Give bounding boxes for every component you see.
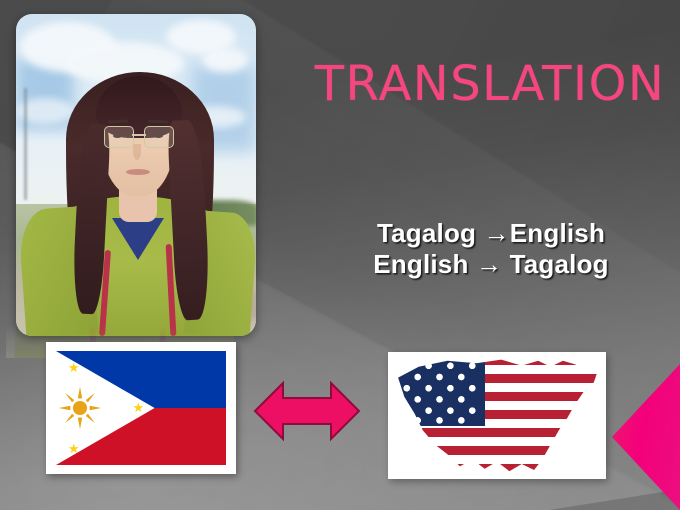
eyeglass-lens-right — [144, 126, 174, 148]
utility-pole — [24, 88, 27, 200]
philippines-star-icon: ★ — [133, 401, 145, 414]
united-states-flag-map-icon — [394, 356, 600, 476]
mouth — [126, 169, 150, 175]
portrait-photo-frame — [16, 14, 256, 336]
philippines-flag-card: ★ ★ ★ — [46, 342, 236, 474]
philippines-sun-icon — [58, 386, 102, 430]
translation-direction-line-1: Tagalog →English — [300, 218, 680, 249]
philippines-star-icon: ★ — [68, 442, 80, 455]
double-headed-arrow-icon — [253, 375, 361, 447]
eyeglasses-icon — [104, 126, 174, 148]
philippines-flag-icon: ★ ★ ★ — [56, 351, 226, 465]
translation-directions: Tagalog →English English → Tagalog — [300, 218, 680, 280]
philippines-star-icon: ★ — [68, 361, 80, 374]
united-states-flag-card — [388, 352, 606, 479]
slide-canvas: TRANSLATION Tagalog →English English → T… — [0, 0, 680, 510]
translation-direction-line-2: English → Tagalog — [300, 249, 680, 280]
cloud — [202, 48, 248, 72]
us-flag-stars — [394, 356, 485, 426]
portrait-photo — [16, 14, 256, 336]
photo-scene — [16, 14, 256, 336]
eyeglass-lens-left — [104, 126, 134, 148]
slide-title: TRANSLATION — [300, 56, 680, 112]
